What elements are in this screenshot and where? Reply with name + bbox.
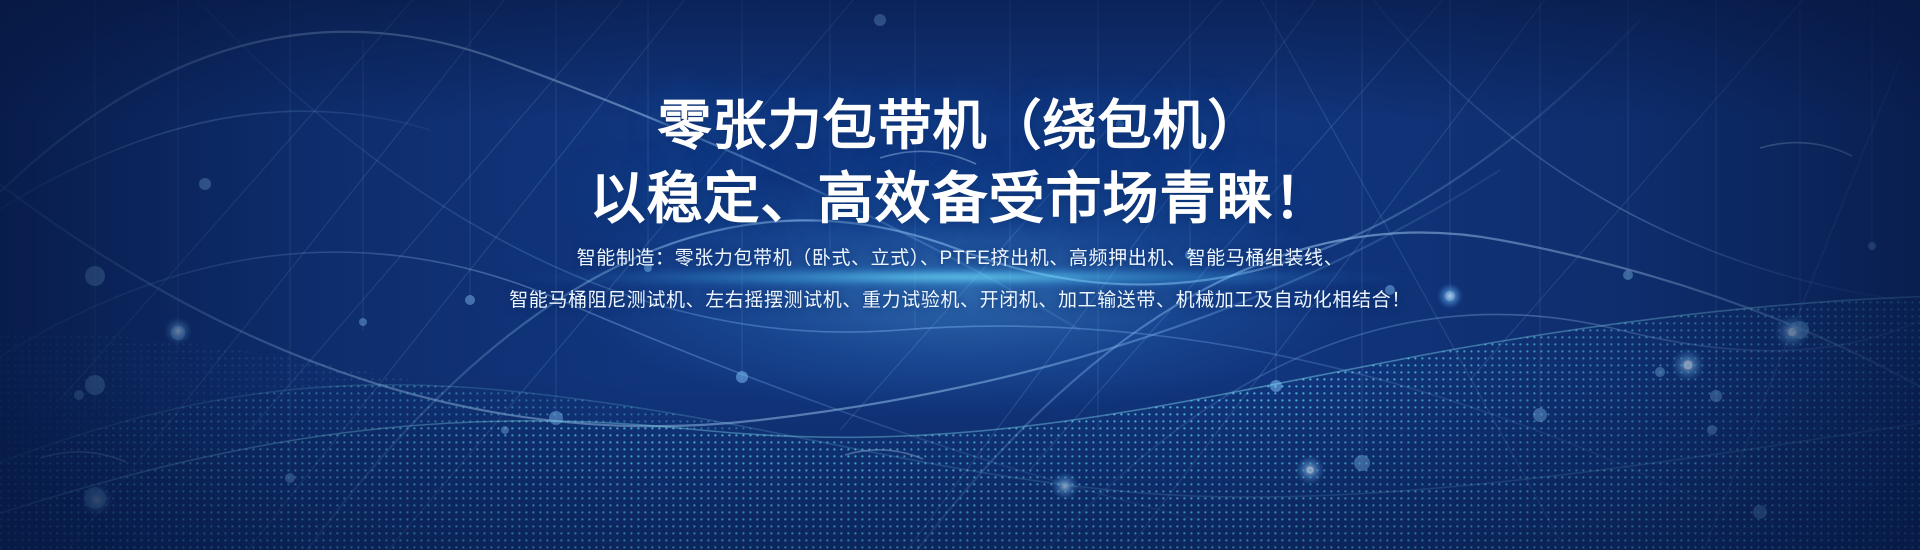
banner-title-line-1: 零张力包带机（绕包机） <box>0 96 1920 156</box>
banner-title-line-2: 以稳定、高效备受市场青睐！ <box>0 168 1920 230</box>
banner-description-line-1: 智能制造：零张力包带机（卧式、立式）、PTFE挤出机、高频押出机、智能马桶组装线… <box>0 246 1920 272</box>
promo-banner: 零张力包带机（绕包机） 以稳定、高效备受市场青睐！ 智能制造：零张力包带机（卧式… <box>0 0 1920 550</box>
banner-description-line-2: 智能马桶阻尼测试机、左右摇摆测试机、重力试验机、开闭机、加工输送带、机械加工及自… <box>0 288 1920 314</box>
